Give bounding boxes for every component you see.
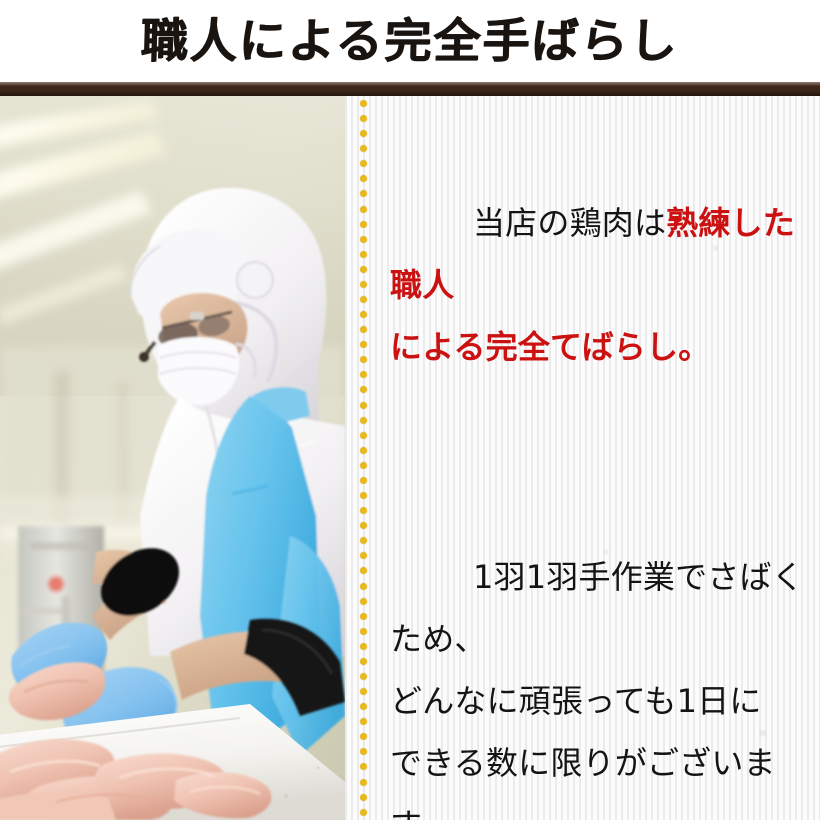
- separator-dot: [360, 809, 367, 816]
- separator-dot: [360, 779, 367, 786]
- separator-dot: [360, 341, 367, 348]
- separator-dot: [360, 673, 367, 680]
- separator-dot: [360, 462, 367, 469]
- separator-dot: [360, 552, 367, 559]
- separator-dot: [360, 733, 367, 740]
- page-title: 職人による完全手ばらし: [141, 18, 680, 65]
- separator-dot: [360, 748, 367, 755]
- separator-dot: [360, 281, 367, 288]
- separator-dot: [360, 718, 367, 725]
- separator-dot: [360, 296, 367, 303]
- separator-dot: [360, 567, 367, 574]
- p1-run-1: 当店の鶏肉は: [473, 204, 666, 242]
- separator-dot: [360, 115, 367, 122]
- separator-dot: [360, 130, 367, 137]
- separator-dot: [360, 356, 367, 363]
- separator-dot: [360, 477, 367, 484]
- separator-dot: [360, 326, 367, 333]
- separator-dot: [360, 206, 367, 213]
- separator-dot: [360, 507, 367, 514]
- separator-dot: [360, 598, 367, 605]
- page-header: 職人による完全手ばらし: [0, 0, 820, 82]
- separator-dot: [360, 628, 367, 635]
- separator-dot: [360, 386, 367, 393]
- separator-dot: [360, 492, 367, 499]
- separator-dot: [360, 537, 367, 544]
- separator-dot: [360, 190, 367, 197]
- promo-page: 職人による完全手ばらし: [0, 0, 820, 820]
- p2-run-1: 1羽1羽手作業でさばくため、 どんなに頑張っても1日に できる数に限りがございま…: [390, 558, 804, 820]
- separator-dot: [360, 522, 367, 529]
- copy-block: 当店の鶏肉は熟練した職人 による完全てばらし。 1羽1羽手作業でさばくため、 ど…: [390, 130, 810, 820]
- worker-photo: [0, 96, 345, 820]
- separator-dot: [360, 794, 367, 801]
- worker-photo-illustration: [0, 96, 345, 820]
- separator-dot: [360, 175, 367, 182]
- separator-dot: [360, 402, 367, 409]
- separator-dot: [360, 583, 367, 590]
- separator-dot: [360, 688, 367, 695]
- separator-dot: [360, 145, 367, 152]
- separator-dot: [360, 251, 367, 258]
- text-panel: 当店の鶏肉は熟練した職人 による完全てばらし。 1羽1羽手作業でさばくため、 ど…: [345, 96, 820, 820]
- separator-dot: [360, 658, 367, 665]
- separator-dot: [360, 763, 367, 770]
- separator-dot: [360, 266, 367, 273]
- separator-dot: [360, 417, 367, 424]
- separator-dot: [360, 221, 367, 228]
- paragraph-1: 当店の鶏肉は熟練した職人 による完全てばらし。: [390, 130, 810, 440]
- separator-dot: [360, 100, 367, 107]
- header-divider-bar: [0, 82, 820, 96]
- separator-dot: [360, 160, 367, 167]
- separator-dot: [360, 432, 367, 439]
- separator-dot: [360, 371, 367, 378]
- separator-dot: [360, 236, 367, 243]
- paragraph-2: 1羽1羽手作業でさばくため、 どんなに頑張っても1日に できる数に限りがございま…: [390, 484, 810, 820]
- separator-dot: [360, 311, 367, 318]
- separator-dot: [360, 447, 367, 454]
- separator-dot: [360, 703, 367, 710]
- separator-dot: [360, 643, 367, 650]
- separator-dot: [360, 613, 367, 620]
- dotted-separator: [357, 100, 369, 816]
